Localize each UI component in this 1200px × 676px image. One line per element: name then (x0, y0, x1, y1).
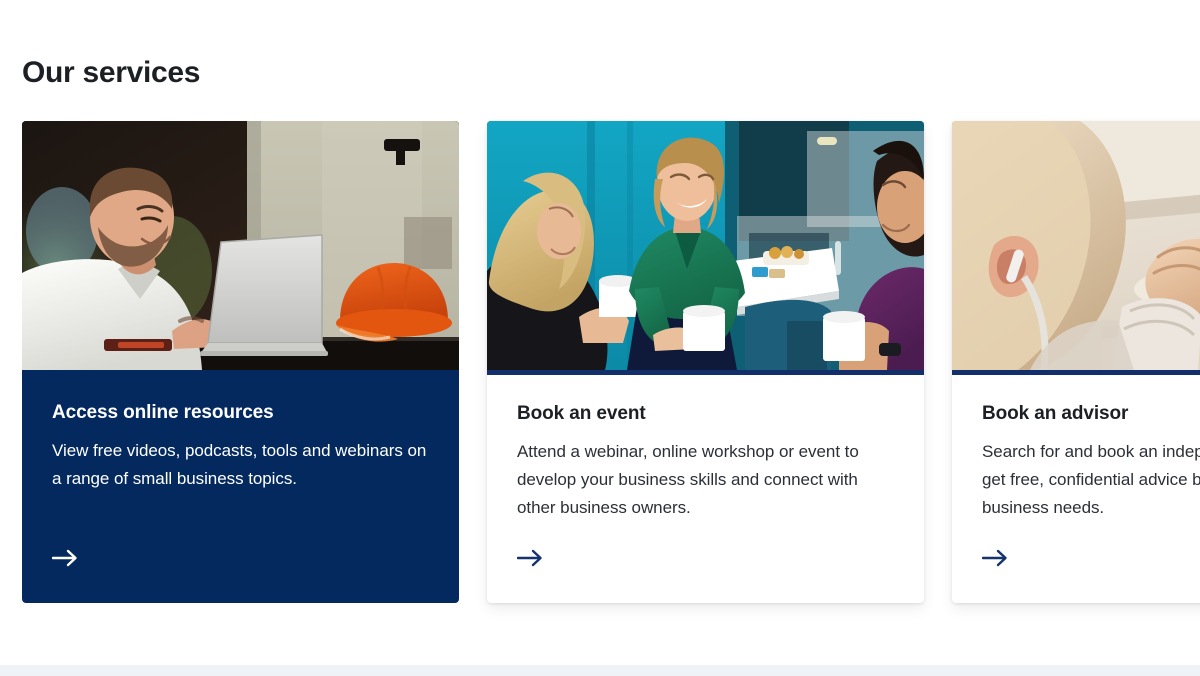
card-description: Search for and book an independent advis… (982, 438, 1200, 522)
arrow-right-icon[interactable] (517, 547, 543, 569)
arrow-right-icon[interactable] (982, 547, 1008, 569)
service-card-access-online-resources[interactable]: Access online resources View free videos… (22, 121, 459, 603)
card-image-access-online-resources (22, 121, 459, 370)
card-image-book-an-event (487, 121, 924, 370)
arrow-right-icon[interactable] (52, 547, 78, 569)
card-image-book-an-advisor (952, 121, 1200, 370)
service-card-book-an-event[interactable]: Book an event Attend a webinar, online w… (487, 121, 924, 603)
card-title: Book an advisor (982, 401, 1200, 427)
card-body: Book an event Attend a webinar, online w… (487, 375, 924, 522)
card-title: Book an event (517, 401, 894, 427)
card-title: Access online resources (52, 400, 429, 426)
page-bottom-band (0, 665, 1200, 676)
card-body: Book an advisor Search for and book an i… (952, 375, 1200, 522)
service-card-book-an-advisor[interactable]: Book an advisor Search for and book an i… (952, 121, 1200, 603)
page-title: Our services (22, 53, 200, 93)
card-body: Access online resources View free videos… (22, 374, 459, 493)
services-card-rail: Access online resources View free videos… (22, 121, 1200, 603)
card-description: View free videos, podcasts, tools and we… (52, 437, 429, 493)
card-description: Attend a webinar, online workshop or eve… (517, 438, 894, 522)
